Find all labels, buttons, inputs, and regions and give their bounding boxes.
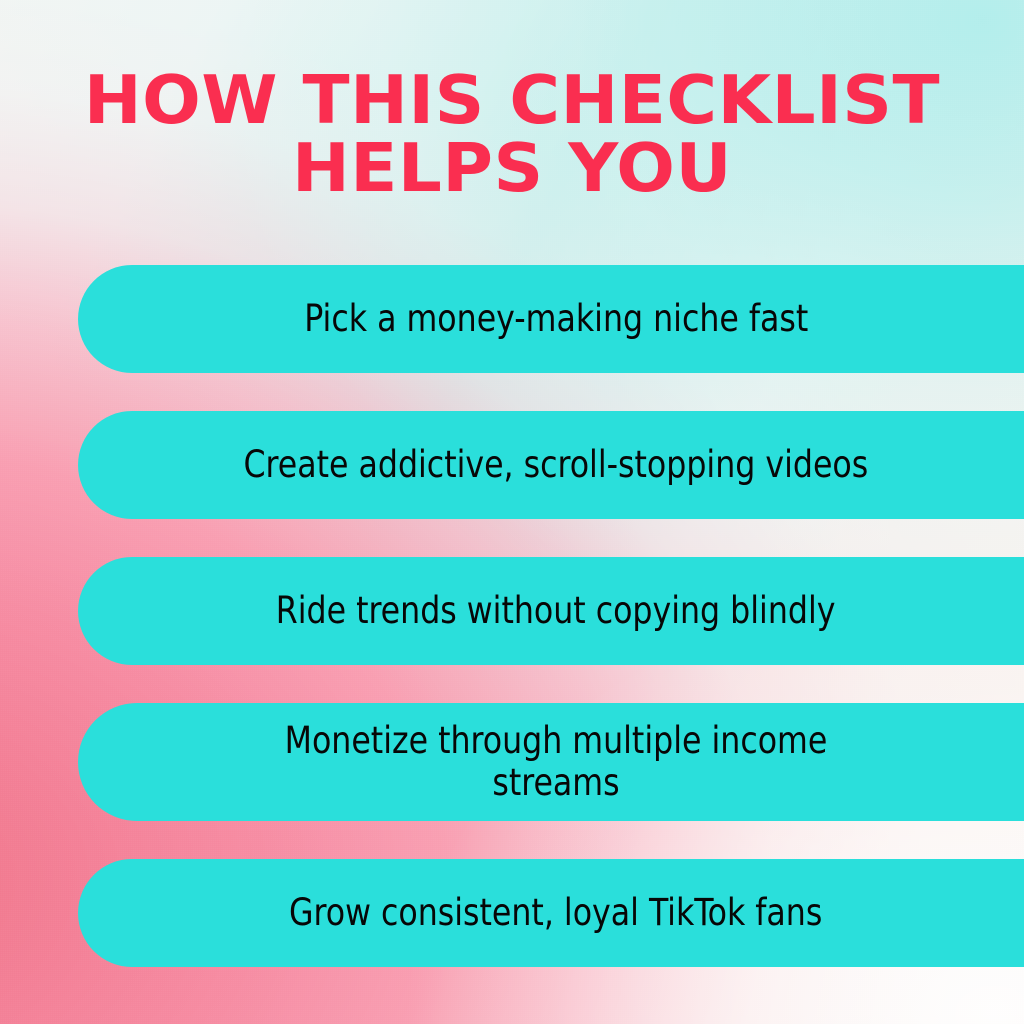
page-title-line-2: HELPS YOU — [26, 136, 998, 200]
checklist-item-4[interactable]: Monetize through multiple income streams — [78, 703, 1024, 821]
checklist-item-1[interactable]: Pick a money-making niche fast — [78, 265, 1024, 373]
checklist-item-2[interactable]: Create addictive, scroll-stopping videos — [78, 411, 1024, 519]
checklist-bars: Pick a money-making niche fast Create ad… — [78, 265, 1024, 967]
checklist-item-3-label: Ride trends without copying blindly — [276, 590, 836, 632]
page-title-line-1: HOW THIS CHECKLIST — [26, 68, 998, 132]
checklist-item-2-label: Create addictive, scroll-stopping videos — [244, 444, 869, 486]
checklist-item-1-label: Pick a money-making niche fast — [304, 298, 808, 340]
page-title: HOW THIS CHECKLIST HELPS YOU — [0, 68, 1024, 201]
checklist-item-4-label: Monetize through multiple income streams — [252, 720, 860, 804]
poster-canvas: HOW THIS CHECKLIST HELPS YOU Pick a mone… — [0, 0, 1024, 1024]
checklist-item-5[interactable]: Grow consistent, loyal TikTok fans — [78, 859, 1024, 967]
checklist-item-5-label: Grow consistent, loyal TikTok fans — [289, 892, 822, 934]
checklist-item-3[interactable]: Ride trends without copying blindly — [78, 557, 1024, 665]
